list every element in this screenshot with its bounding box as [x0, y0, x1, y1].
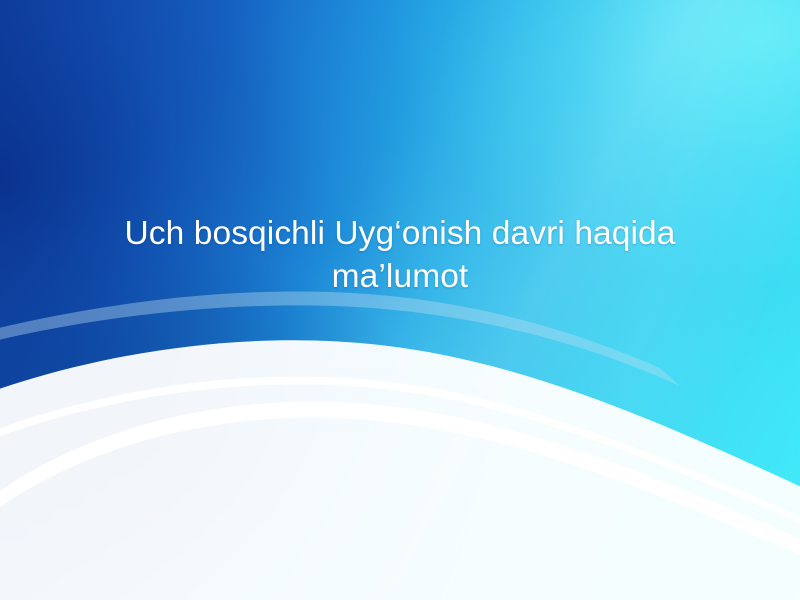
wave-decoration [0, 0, 800, 600]
presentation-slide: Uch bosqichli Uyg‘onish davri haqida ma’… [0, 0, 800, 600]
slide-title: Uch bosqichli Uyg‘onish davri haqida ma’… [62, 212, 738, 298]
